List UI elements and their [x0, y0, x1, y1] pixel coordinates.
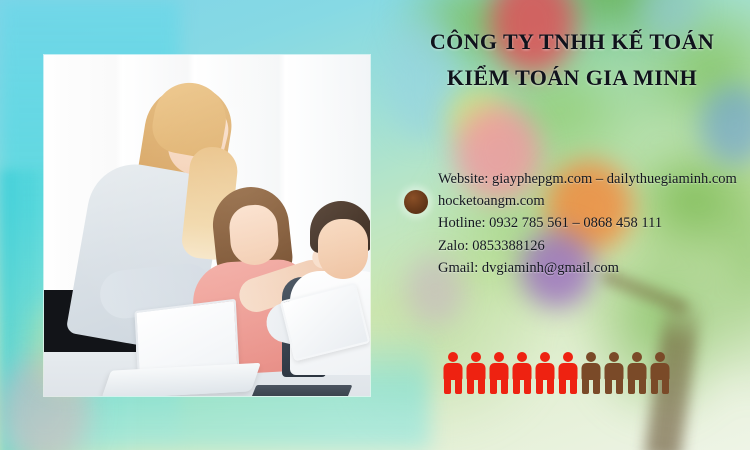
- person-icon-head: [655, 352, 665, 362]
- person-icon-leg-right: [639, 378, 646, 394]
- contact-website-line2: hocketoangm.com: [438, 190, 744, 212]
- person-icon-leg-right: [455, 378, 462, 394]
- photo-man-face: [318, 219, 368, 279]
- contact-hotline: Hotline: 0932 785 561 – 0868 458 111: [438, 212, 744, 234]
- company-title: CÔNG TY TNHH KẾ TOÁN KIỂM TOÁN GIA MINH: [398, 24, 746, 96]
- person-icon-head: [471, 352, 481, 362]
- person-icon-leg-left: [536, 378, 543, 394]
- person-icon-head: [586, 352, 596, 362]
- person-icon-leg-right: [570, 378, 577, 394]
- person-icon-head: [540, 352, 550, 362]
- team-photo: [44, 55, 370, 396]
- person-icon-leg-left: [490, 378, 497, 394]
- person-icon-leg-right: [547, 378, 554, 394]
- person-icon-head: [563, 352, 573, 362]
- person-icon-leg-left: [628, 378, 635, 394]
- person-icon-leg-left: [467, 378, 474, 394]
- person-icon-leg-right: [524, 378, 531, 394]
- banner-root: CÔNG TY TNHH KẾ TOÁN KIỂM TOÁN GIA MINH …: [0, 0, 750, 450]
- person-icon: [558, 352, 578, 394]
- person-icon-leg-right: [501, 378, 508, 394]
- person-icon-head: [494, 352, 504, 362]
- person-icon-leg-left: [605, 378, 612, 394]
- person-icon-head: [448, 352, 458, 362]
- person-icon-head: [609, 352, 619, 362]
- brown-dot-icon: [404, 190, 428, 214]
- contact-info: Website: giayphepgm.com – dailythuegiami…: [438, 168, 744, 279]
- person-icon-leg-left: [513, 378, 520, 394]
- contact-website-line1: Website: giayphepgm.com – dailythuegiami…: [438, 168, 744, 190]
- person-icon-leg-left: [444, 378, 451, 394]
- person-icon-leg-right: [662, 378, 669, 394]
- person-icon-leg-left: [582, 378, 589, 394]
- person-icon: [489, 352, 509, 394]
- person-icon: [443, 352, 463, 394]
- person-icon-leg-right: [478, 378, 485, 394]
- people-pictogram-row: [443, 352, 670, 394]
- person-icon: [627, 352, 647, 394]
- person-icon: [512, 352, 532, 394]
- person-icon: [581, 352, 601, 394]
- contact-zalo: Zalo: 0853388126: [438, 235, 744, 257]
- person-icon: [535, 352, 555, 394]
- contact-gmail: Gmail: dvgiaminh@gmail.com: [438, 257, 744, 279]
- person-icon-leg-right: [593, 378, 600, 394]
- company-title-line2: KIỂM TOÁN GIA MINH: [398, 60, 746, 96]
- person-icon-leg-left: [651, 378, 658, 394]
- person-icon-head: [632, 352, 642, 362]
- person-icon-leg-left: [559, 378, 566, 394]
- person-icon: [650, 352, 670, 394]
- person-icon: [466, 352, 486, 394]
- company-title-line1: CÔNG TY TNHH KẾ TOÁN: [398, 24, 746, 60]
- photo-keyboard: [248, 385, 353, 396]
- person-icon-head: [517, 352, 527, 362]
- photo-woman2-face: [228, 203, 280, 266]
- person-icon: [604, 352, 624, 394]
- person-icon-leg-right: [616, 378, 623, 394]
